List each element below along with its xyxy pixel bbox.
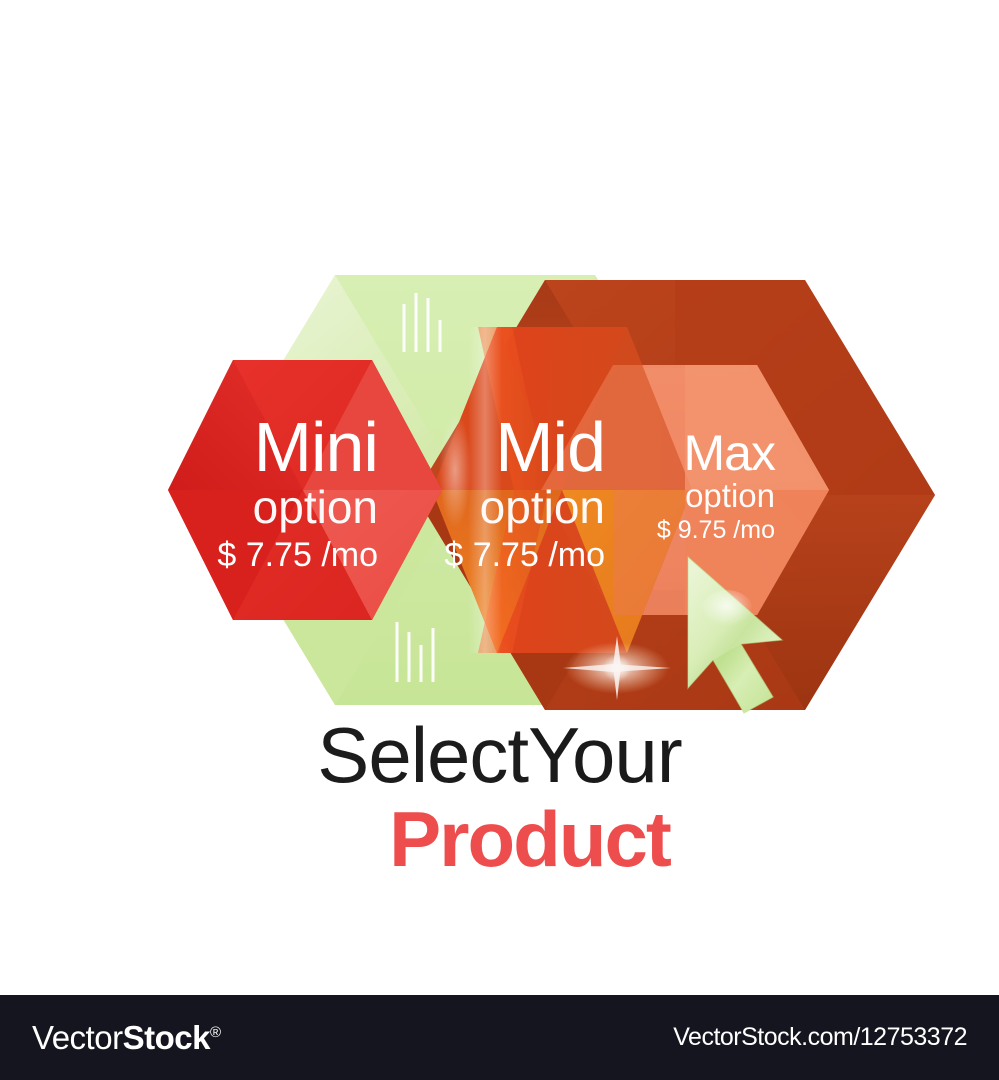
image-canvas: Mini option $ 7.75 /mo Mid option $ 7.75… [0,0,999,1080]
vectorstock-logo: VectorStock® [32,1019,221,1057]
headline-word-product: Product [60,800,999,878]
headline-line-1: SelectYour [0,716,999,794]
option-title-max: Max [560,428,775,478]
headline: SelectYour Product [0,716,999,878]
watermark-url: VectorStock.com/12753372 [673,1023,967,1052]
logo-text-vector: Vector [32,1019,123,1056]
watermark-bar: VectorStock® VectorStock.com/12753372 [0,995,999,1080]
headline-word-select: Select [317,711,528,799]
logo-text-stock: Stock [123,1019,210,1056]
headline-word-your: Your [528,711,682,799]
option-price-max: $ 9.75 /mo [560,518,775,543]
artwork-area: Mini option $ 7.75 /mo Mid option $ 7.75… [0,0,999,995]
option-card-max[interactable]: Max option $ 9.75 /mo [560,428,775,543]
option-subtitle-max: option [560,479,775,512]
registered-trademark-icon: ® [210,1024,221,1041]
option-price-mid: $ 7.75 /mo [305,538,605,572]
